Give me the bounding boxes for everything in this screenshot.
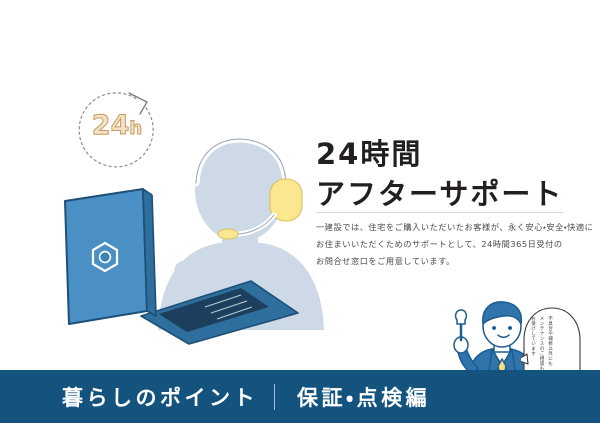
body-copy: 一建設では、住宅をご購入いただいたお客様が、永く安心・安全・快適に お住まいいた…	[316, 219, 568, 270]
bubble-line-2: メンテナンスのご相談も	[539, 316, 544, 371]
headline-divider	[316, 212, 563, 213]
banner-inner: 暮らしのポイント 保証・点検編	[62, 370, 430, 423]
headline-line-2: アフターサポート	[316, 174, 578, 214]
bubble-line-1: 不具合や補修以外にも	[548, 316, 553, 366]
badge-number: 24	[92, 110, 130, 141]
bubble-line-3: お受けしています	[531, 316, 536, 356]
laptop-icon	[55, 185, 300, 345]
banner-left-label: 暮らしのポイント	[62, 382, 258, 412]
page-title: 24時間 アフターサポート	[316, 134, 578, 214]
badge-unit: h	[129, 118, 142, 139]
body-line-2: お住まいいただくためのサポートとして、24時間365日受付の	[316, 236, 568, 253]
banner-right-label: 保証・点検編	[297, 382, 430, 412]
after-support-poster: 24h	[0, 0, 600, 423]
hexagon-logo-icon	[93, 243, 117, 271]
bottom-banner: 暮らしのポイント 保証・点検編	[0, 370, 600, 423]
wrench-icon	[456, 310, 467, 340]
headline-line-1: 24時間	[316, 134, 578, 174]
body-line-1: 一建設では、住宅をご購入いただいたお客様が、永く安心・安全・快適に	[316, 219, 568, 236]
banner-divider	[274, 384, 275, 410]
body-line-3: お問合せ窓口をご用意しています。	[316, 253, 568, 270]
speech-bubble-text: 不具合や補修以外にもメンテナンスのご相談もお受けしています	[528, 316, 554, 372]
